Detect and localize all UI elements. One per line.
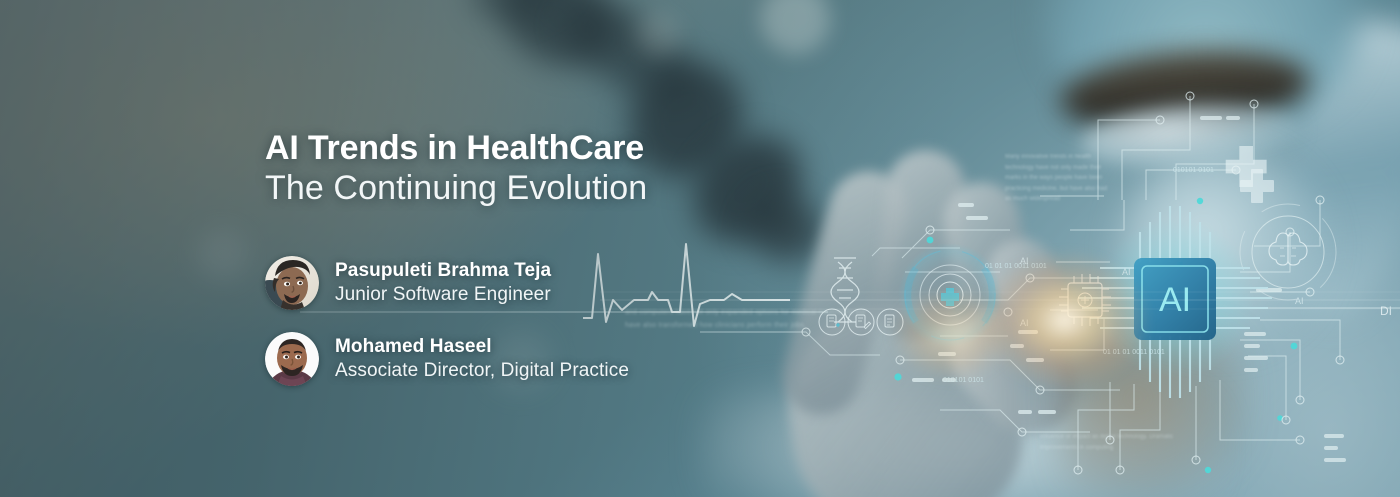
- speaker-text: Mohamed Haseel Associate Director, Digit…: [335, 336, 629, 382]
- speaker-text: Pasupuleti Brahma Teja Junior Software E…: [335, 260, 551, 306]
- speaker-item: Mohamed Haseel Associate Director, Digit…: [265, 332, 629, 386]
- title-block: AI Trends in HealthCare The Continuing E…: [265, 130, 647, 208]
- edge-cut-label: Di: [1380, 304, 1392, 318]
- speakers-list: Pasupuleti Brahma Teja Junior Software E…: [265, 256, 629, 408]
- banner-title: AI Trends in HealthCare: [265, 130, 647, 166]
- decorative-paragraph-3: influence or impact as digital technolog…: [1040, 432, 1180, 455]
- banner-subtitle: The Continuing Evolution: [265, 169, 647, 208]
- avatar-photo: [265, 332, 319, 386]
- decorative-paragraph-2: Many innovative trends in health technol…: [1005, 152, 1113, 205]
- fingertip-contact-glow2: [892, 288, 1012, 380]
- speaker-item: Pasupuleti Brahma Teja Junior Software E…: [265, 256, 629, 310]
- avatar: [265, 332, 319, 386]
- avatar-photo: [265, 256, 319, 310]
- avatar: [265, 256, 319, 310]
- speaker-name: Pasupuleti Brahma Teja: [335, 260, 551, 282]
- speaker-name: Mohamed Haseel: [335, 336, 629, 358]
- speaker-role: Junior Software Engineer: [335, 284, 551, 306]
- speaker-role: Associate Director, Digital Practice: [335, 360, 629, 382]
- banner-content: AI Trends in HealthCare The Continuing E…: [265, 0, 985, 497]
- webinar-banner: AI 010101 0101 01 01 01 0: [0, 0, 1400, 497]
